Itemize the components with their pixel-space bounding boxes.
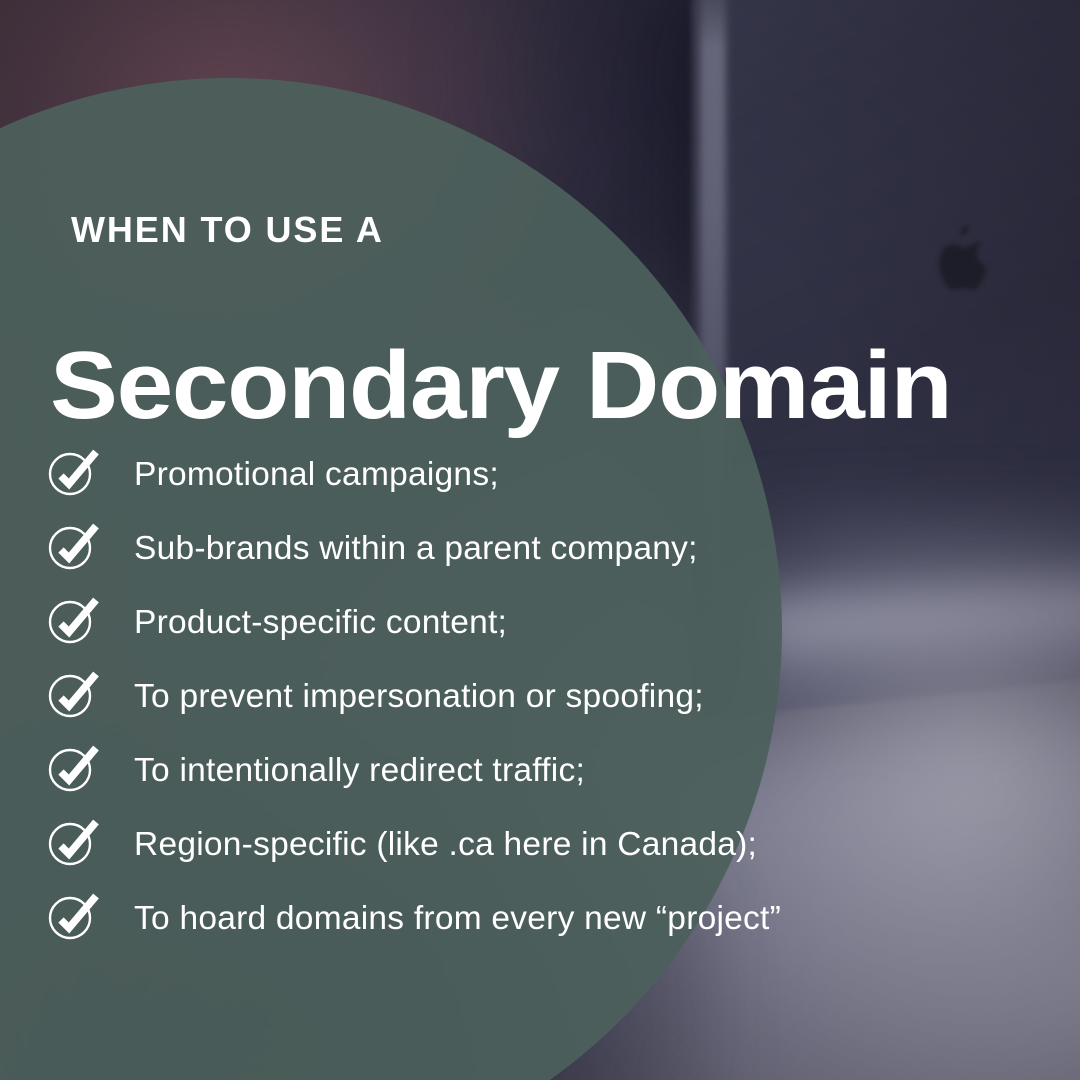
list-item-label: To intentionally redirect traffic; — [134, 752, 585, 790]
check-circle-icon — [48, 596, 100, 648]
list-item-label: Product-specific content; — [134, 604, 507, 642]
list-item: Product-specific content; — [48, 586, 1048, 660]
check-circle-icon — [48, 892, 100, 944]
check-circle-icon — [48, 818, 100, 870]
list-item: To hoard domains from every new “project… — [48, 882, 1048, 956]
poster-content: WHEN TO USE A Secondary Domain Promotion… — [0, 0, 1080, 1080]
list-item: Region-specific (like .ca here in Canada… — [48, 808, 1048, 882]
list-item: Sub-brands within a parent company; — [48, 512, 1048, 586]
list-item: Promotional campaigns; — [48, 438, 1048, 512]
eyebrow-text: WHEN TO USE A — [71, 212, 384, 248]
check-circle-icon — [48, 448, 100, 500]
list-item: To prevent impersonation or spoofing; — [48, 660, 1048, 734]
poster-canvas: WHEN TO USE A Secondary Domain Promotion… — [0, 0, 1080, 1080]
list-item-label: Region-specific (like .ca here in Canada… — [134, 826, 757, 864]
check-circle-icon — [48, 522, 100, 574]
list-item-label: Sub-brands within a parent company; — [134, 530, 698, 568]
list-item: To intentionally redirect traffic; — [48, 734, 1048, 808]
list-item-label: To prevent impersonation or spoofing; — [134, 678, 704, 716]
list-item-label: To hoard domains from every new “project… — [134, 900, 781, 938]
list-item-label: Promotional campaigns; — [134, 456, 499, 494]
page-title: Secondary Domain — [50, 336, 951, 436]
check-circle-icon — [48, 670, 100, 722]
check-circle-icon — [48, 744, 100, 796]
checklist: Promotional campaigns; Sub-brands within… — [48, 438, 1048, 956]
